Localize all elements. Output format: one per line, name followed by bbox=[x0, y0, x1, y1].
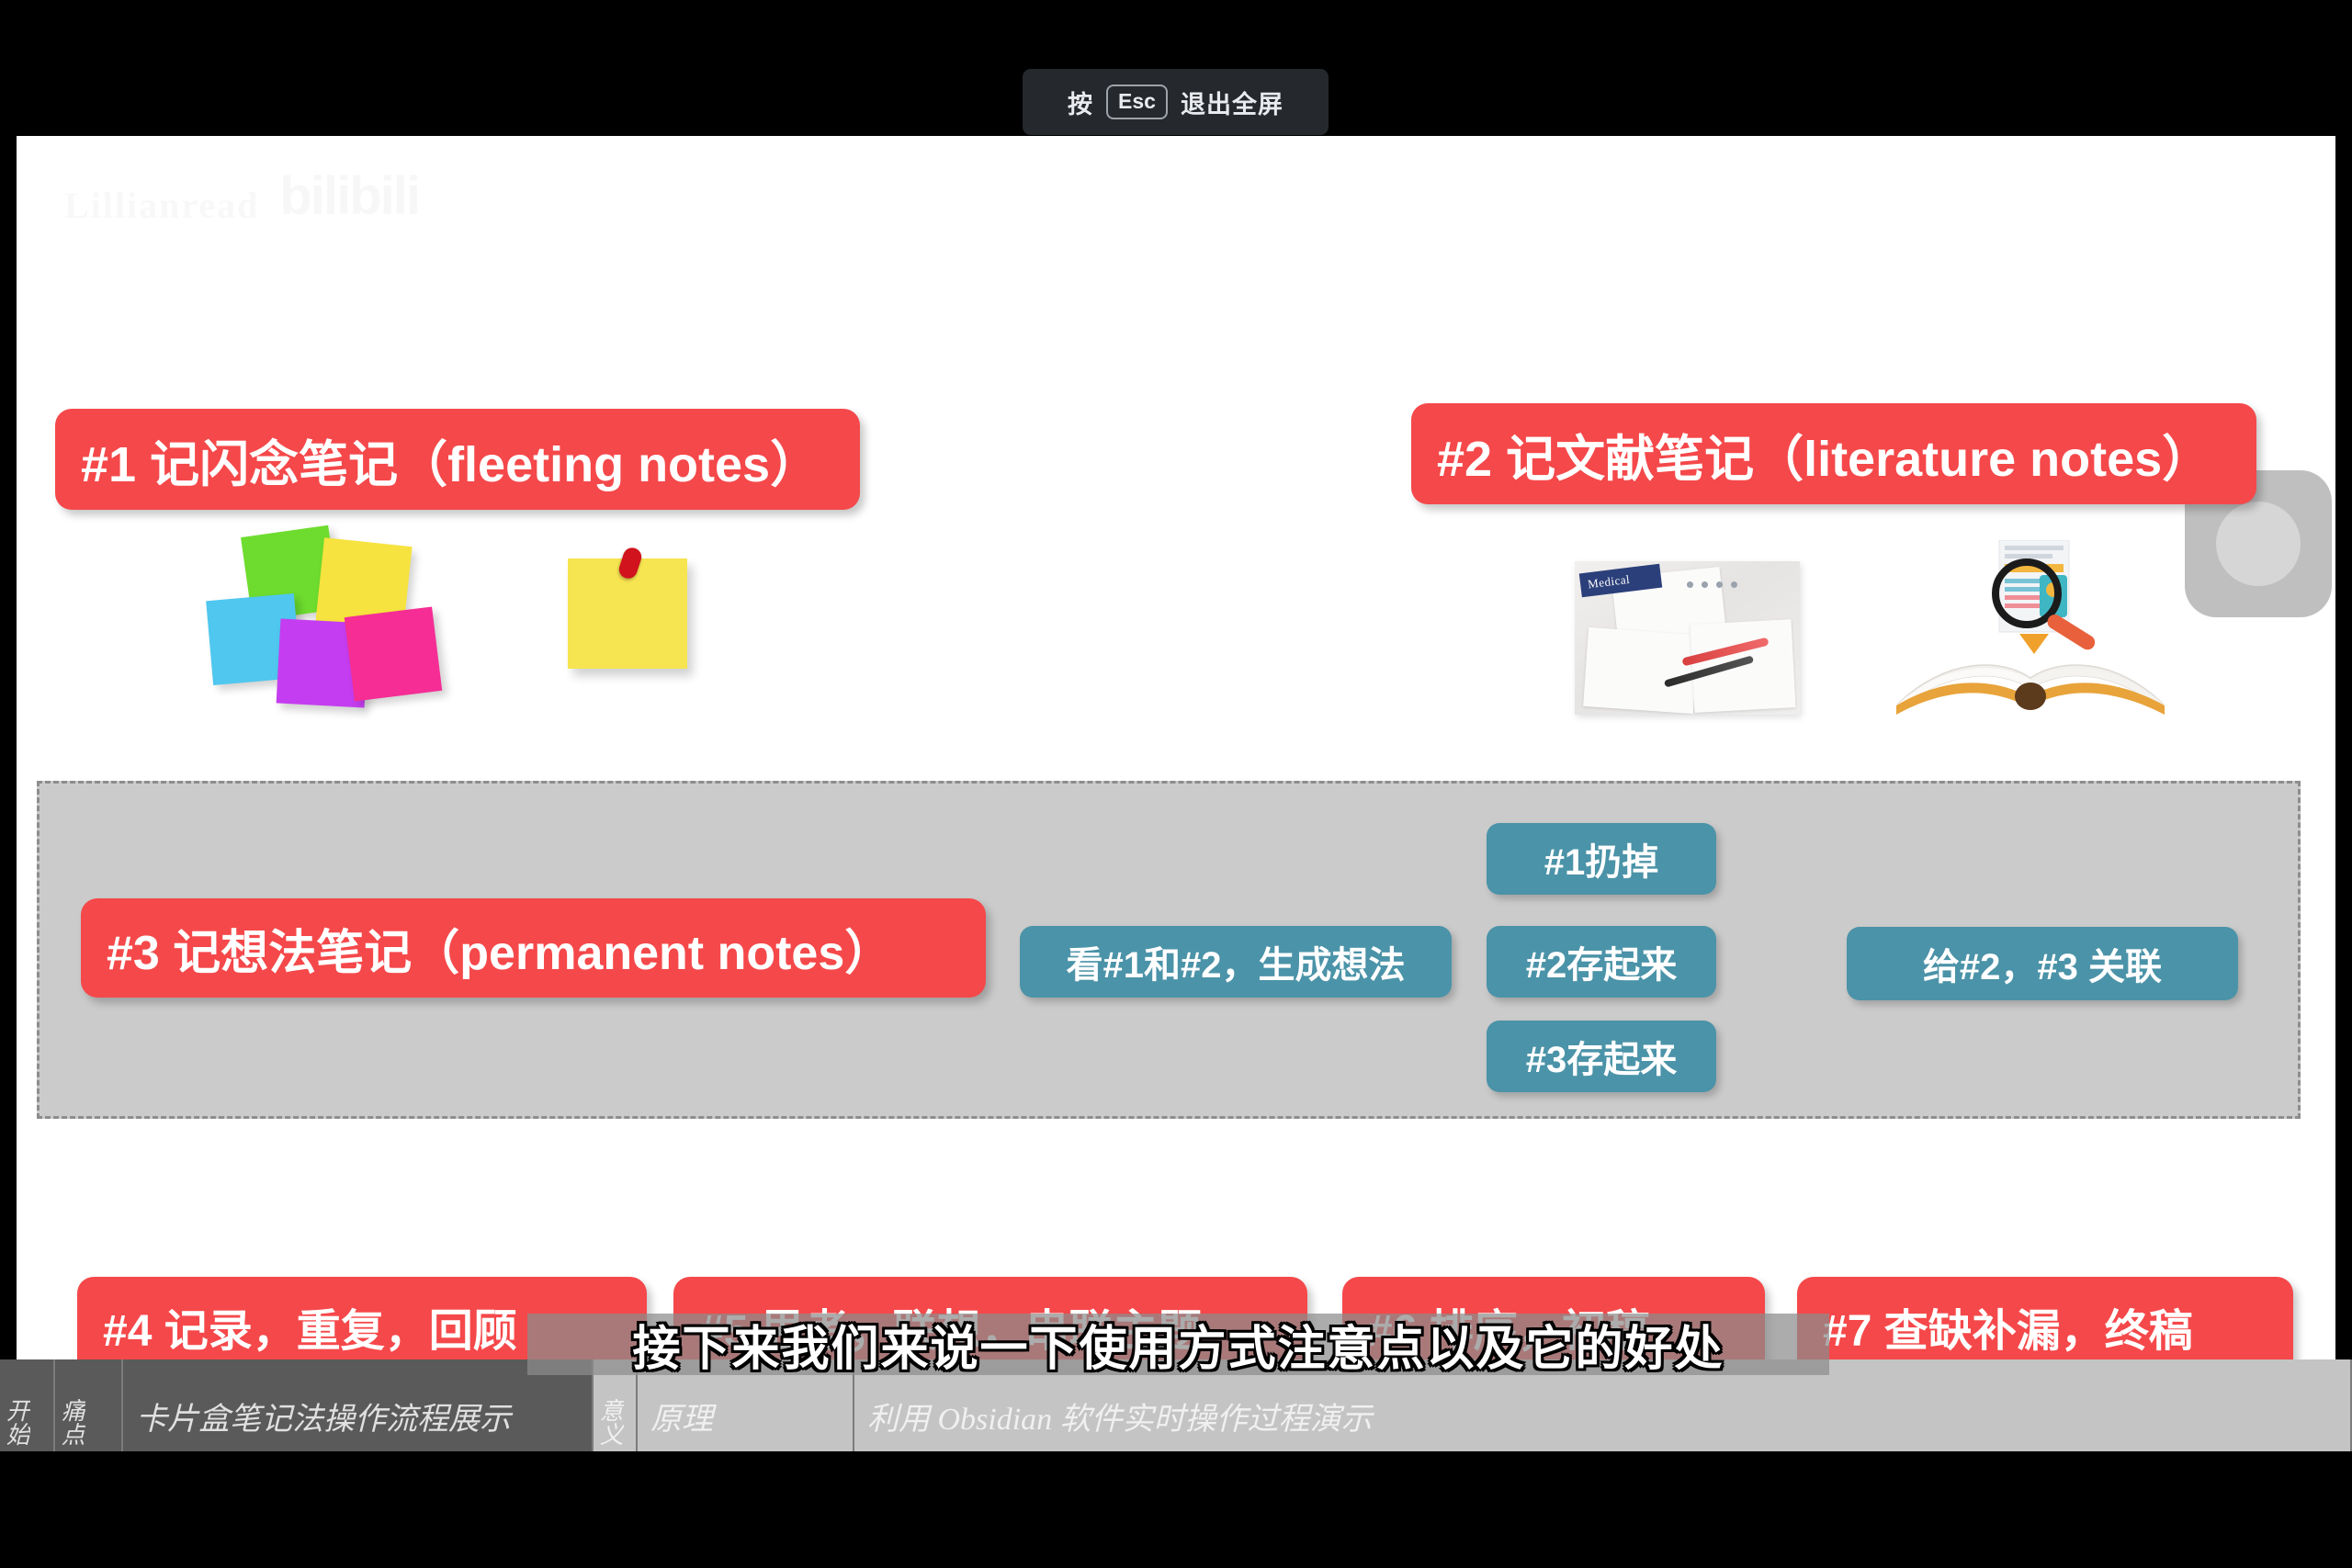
sticky-notes-cluster-illustration bbox=[209, 531, 448, 715]
step-link-notes: 给#2，#3 关联 bbox=[1847, 927, 2238, 1000]
banner-review-final-label: #7 查缺补漏，终稿 bbox=[1823, 1294, 2193, 1359]
chapter-label-obsidian-demo: 利用 Obsidian 软件实时操作过程演示 bbox=[854, 1393, 1385, 1451]
paper-sheet bbox=[1690, 619, 1796, 713]
pinned-sticky-note-illustration bbox=[568, 558, 687, 669]
toast-suffix-label: 退出全屏 bbox=[1181, 85, 1283, 120]
banner-literature-notes: #2 记文献笔记（literature notes） bbox=[1411, 403, 2256, 504]
watermark-username: Lillianread bbox=[64, 184, 259, 227]
exit-fullscreen-toast: 按 Esc 退出全屏 bbox=[1023, 69, 1329, 135]
chapter-label-principles: 原理 bbox=[638, 1393, 726, 1451]
step-generate-ideas-label: 看#1和#2，生成想法 bbox=[1067, 935, 1406, 988]
literature-documents-photo: Medical bbox=[1575, 561, 1800, 715]
banner-fleeting-notes: #1 记闪念笔记（fleeting notes） bbox=[55, 409, 860, 510]
step-store-permanent-label: #3存起来 bbox=[1526, 1030, 1678, 1083]
banner-permanent-notes-label: #3 记想法笔记（permanent notes） bbox=[107, 914, 892, 983]
bilibili-watermark: Lillianread bilibili bbox=[64, 165, 419, 227]
watermark-bilibili-logo: bilibili bbox=[279, 165, 419, 227]
sticky-note-pink bbox=[345, 606, 442, 701]
screen-root: 按 Esc 退出全屏 Lillianread bilibili #1 记闪念笔记… bbox=[0, 0, 2352, 1568]
step-discard-fleeting-label: #1扔掉 bbox=[1544, 832, 1659, 886]
chapter-segment-start[interactable]: 开始 bbox=[0, 1359, 55, 1451]
video-frame-left-letterbox bbox=[0, 136, 17, 1359]
step-discard-fleeting: #1扔掉 bbox=[1487, 823, 1716, 895]
banner-record-repeat-review-label: #4 记录，重复，回顾 bbox=[103, 1294, 517, 1359]
video-subtitle-overlay: 接下来我们来说一下使用方式注意点以及它的好处 bbox=[527, 1314, 1829, 1375]
chapter-label-workflow-demo: 卡片盒笔记法操作流程展示 bbox=[123, 1393, 524, 1451]
esc-key-badge: Esc bbox=[1106, 85, 1168, 119]
step-store-literature: #2存起来 bbox=[1487, 926, 1716, 998]
book-with-magnifier-icon bbox=[1891, 540, 2176, 719]
step-generate-ideas: 看#1和#2，生成想法 bbox=[1020, 926, 1452, 998]
banner-literature-notes-label: #2 记文献笔记（literature notes） bbox=[1437, 418, 2211, 491]
chapter-label-pain-points: 痛点 bbox=[55, 1393, 87, 1451]
step-store-literature-label: #2存起来 bbox=[1526, 935, 1678, 988]
banner-fleeting-notes-label: #1 记闪念笔记（fleeting notes） bbox=[81, 423, 820, 496]
form-dots bbox=[1687, 581, 1737, 588]
chapter-segment-pain-points[interactable]: 痛点 bbox=[55, 1359, 123, 1451]
subtitle-text: 接下来我们来说一下使用方式注意点以及它的好处 bbox=[632, 1310, 1724, 1379]
chapter-label-start: 开始 bbox=[0, 1393, 32, 1451]
banner-review-final: #7 查缺补漏，终稿 bbox=[1797, 1277, 2293, 1359]
pushpin-icon bbox=[616, 546, 644, 581]
presentation-slide: Lillianread bilibili #1 记闪念笔记（fleeting n… bbox=[17, 136, 2335, 1359]
step-store-permanent: #3存起来 bbox=[1487, 1021, 1716, 1092]
toast-prefix-label: 按 bbox=[1068, 85, 1093, 120]
banner-permanent-notes: #3 记想法笔记（permanent notes） bbox=[81, 898, 986, 998]
medical-label-text: Medical bbox=[1579, 564, 1662, 593]
chapter-label-meaning: 意义 bbox=[594, 1393, 626, 1451]
video-frame-right-letterbox bbox=[2335, 136, 2352, 1359]
chapter-segment-workflow-demo[interactable]: 卡片盒笔记法操作流程展示 bbox=[123, 1359, 594, 1451]
paper-sheet bbox=[1583, 627, 1699, 714]
video-frame-bottom-letterbox bbox=[0, 1451, 2352, 1568]
step-link-notes-label: 给#2，#3 关联 bbox=[1923, 937, 2162, 990]
